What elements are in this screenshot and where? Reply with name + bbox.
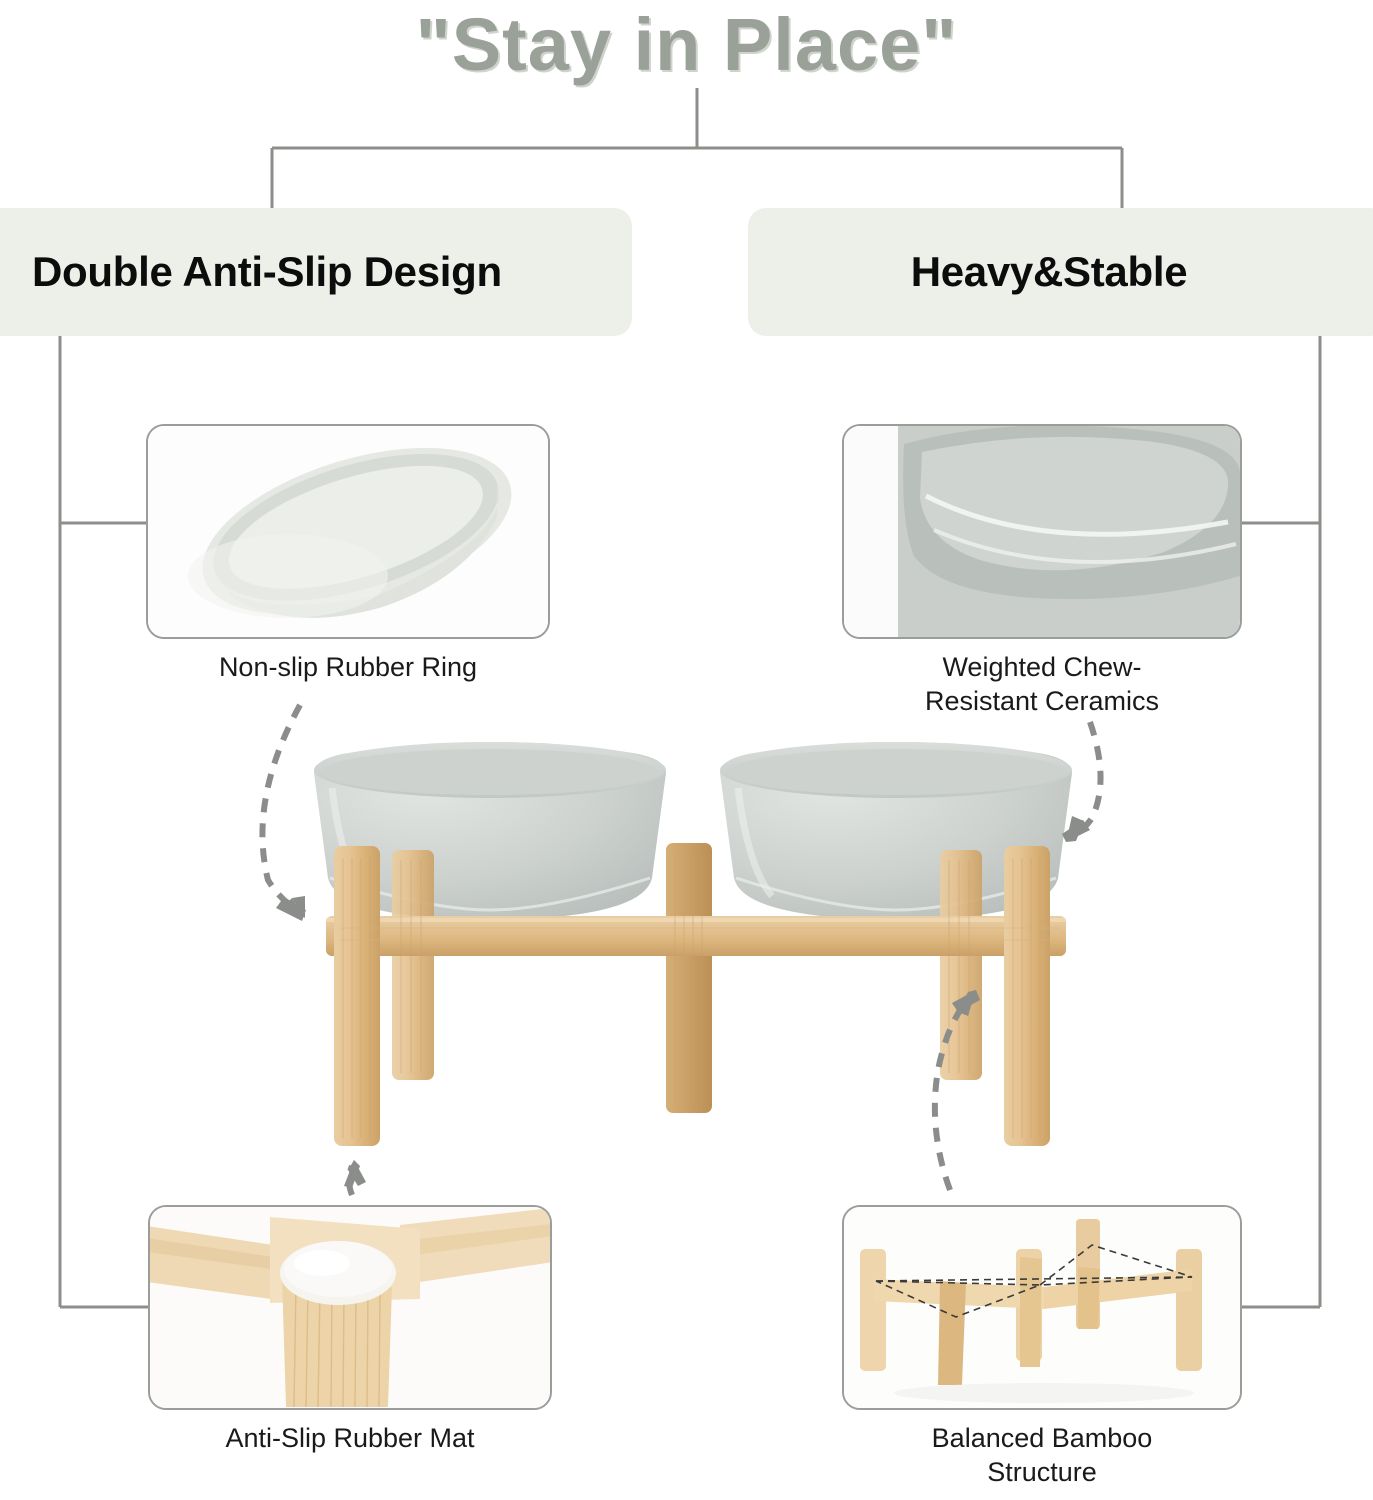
stand-leg-front-right [1004,846,1050,1146]
non-slip-rubber-ring-image [148,426,548,637]
feature-caption: Weighted Chew- Resistant Ceramics [842,650,1242,718]
branch-header-right: Heavy&Stable [748,208,1373,336]
branch-header-left: Double Anti-Slip Design [0,208,632,336]
weighted-chew-resistant-ceramics-image [844,426,1240,637]
stand-post-rear-right [940,850,982,1080]
feature-image-frame [842,424,1242,639]
feature-image-frame [842,1205,1242,1410]
page-title: "Stay in Place" [0,2,1373,88]
stand-post-center [666,843,712,1113]
stand-post-rear-left [392,850,434,1080]
anti-slip-rubber-mat-image [150,1207,550,1408]
feature-image-frame [148,1205,552,1410]
feature-caption: Balanced Bamboo Structure [842,1421,1242,1489]
stand-leg-front-left [334,846,380,1146]
feature-caption: Non-slip Rubber Ring [146,650,550,684]
infographic-canvas: "Stay in Place" Double Anti-Slip Design … [0,0,1373,1500]
balanced-bamboo-structure-image [844,1207,1240,1408]
feature-caption: Anti-Slip Rubber Mat [148,1421,552,1455]
feature-image-frame [146,424,550,639]
product-hero-image [280,728,1104,1184]
branch-header-right-label: Heavy&Stable [911,248,1188,296]
branch-header-left-label: Double Anti-Slip Design [32,248,502,296]
